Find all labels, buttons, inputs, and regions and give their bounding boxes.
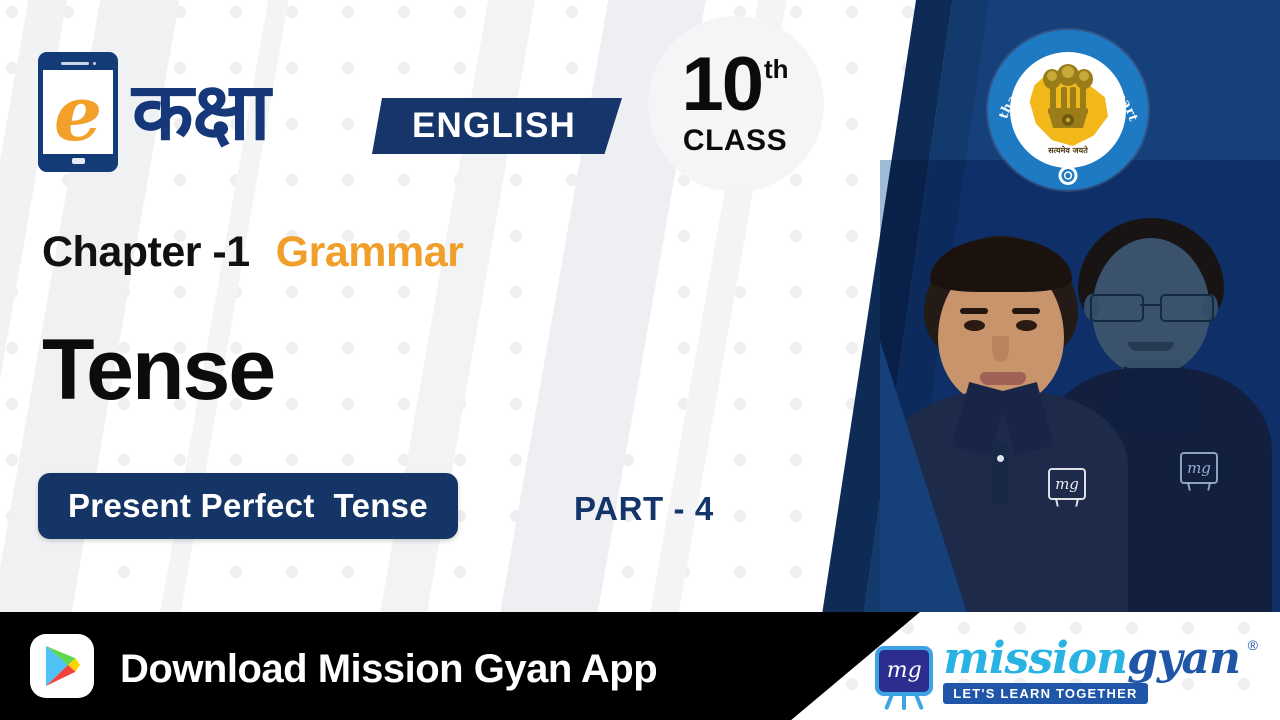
subtopic-label: Present Perfect Tense bbox=[68, 487, 428, 525]
mg-shirt-badge-icon: mg bbox=[1048, 468, 1086, 500]
lesson-thumbnail: mg mg Rajastha bbox=[0, 0, 1280, 720]
class-ordinal-suffix: th bbox=[764, 56, 789, 82]
eyebrow-right bbox=[1012, 308, 1040, 314]
subject-label: ENGLISH bbox=[412, 106, 576, 146]
eye-right bbox=[1016, 320, 1037, 331]
shirt-button bbox=[997, 455, 1004, 462]
ashoka-lion-capital-icon bbox=[1041, 62, 1095, 136]
missiongyan-logo[interactable]: mg missiongyan ® LET'S LEARN TOGETHER bbox=[875, 637, 1258, 704]
class-number: 10 bbox=[681, 50, 762, 120]
hair-fringe bbox=[930, 238, 1072, 292]
tablet-icon: e bbox=[38, 52, 118, 172]
emblem-inner-disc: सत्यमेव जयते bbox=[1010, 52, 1126, 168]
subtopic-pill: Present Perfect Tense bbox=[38, 473, 458, 539]
subject-banner: ENGLISH bbox=[372, 98, 622, 154]
eyebrow-left bbox=[960, 308, 988, 314]
wordmark-mission: mission bbox=[943, 633, 1127, 684]
google-play-icon[interactable] bbox=[30, 634, 94, 698]
ekaksha-logo[interactable]: e कक्षा bbox=[38, 52, 270, 172]
chakra-icon bbox=[1059, 166, 1078, 185]
mg-board-text: mg bbox=[887, 658, 922, 683]
class-badge: 10 th CLASS bbox=[660, 50, 810, 158]
nose bbox=[992, 336, 1009, 362]
tablet-home-bar bbox=[43, 154, 113, 167]
tagline: LET'S LEARN TOGETHER bbox=[943, 683, 1147, 704]
logo-letter-e: e bbox=[54, 76, 102, 152]
mg-board-icon: mg bbox=[875, 646, 933, 696]
registered-trademark-icon: ® bbox=[1248, 637, 1258, 653]
instructors-photo: mg mg bbox=[880, 160, 1280, 612]
mouth bbox=[980, 372, 1026, 385]
chapter-row: Chapter -1 Grammar bbox=[42, 228, 463, 277]
chapter-label: Chapter -1 bbox=[42, 228, 250, 277]
class-word: CLASS bbox=[660, 124, 810, 158]
emblem-motto: सत्यमेव जयते bbox=[1010, 145, 1126, 156]
tablet-speaker-bar bbox=[43, 57, 113, 70]
download-cta-text[interactable]: Download Mission Gyan App bbox=[120, 647, 657, 692]
part-label: PART - 4 bbox=[574, 490, 714, 528]
shirt-placket bbox=[992, 442, 1008, 504]
rajasthan-education-department-emblem: Rajasthan Education Department bbox=[988, 30, 1148, 190]
missiongyan-wordmark: missiongyan ® LET'S LEARN TOGETHER bbox=[943, 637, 1258, 704]
page-title: Tense bbox=[42, 327, 274, 413]
chapter-topic: Grammar bbox=[276, 228, 464, 277]
eye-left bbox=[964, 320, 985, 331]
logo-wordmark-hindi: कक्षा bbox=[132, 72, 270, 152]
wordmark-gyan: gyan bbox=[1127, 633, 1240, 684]
